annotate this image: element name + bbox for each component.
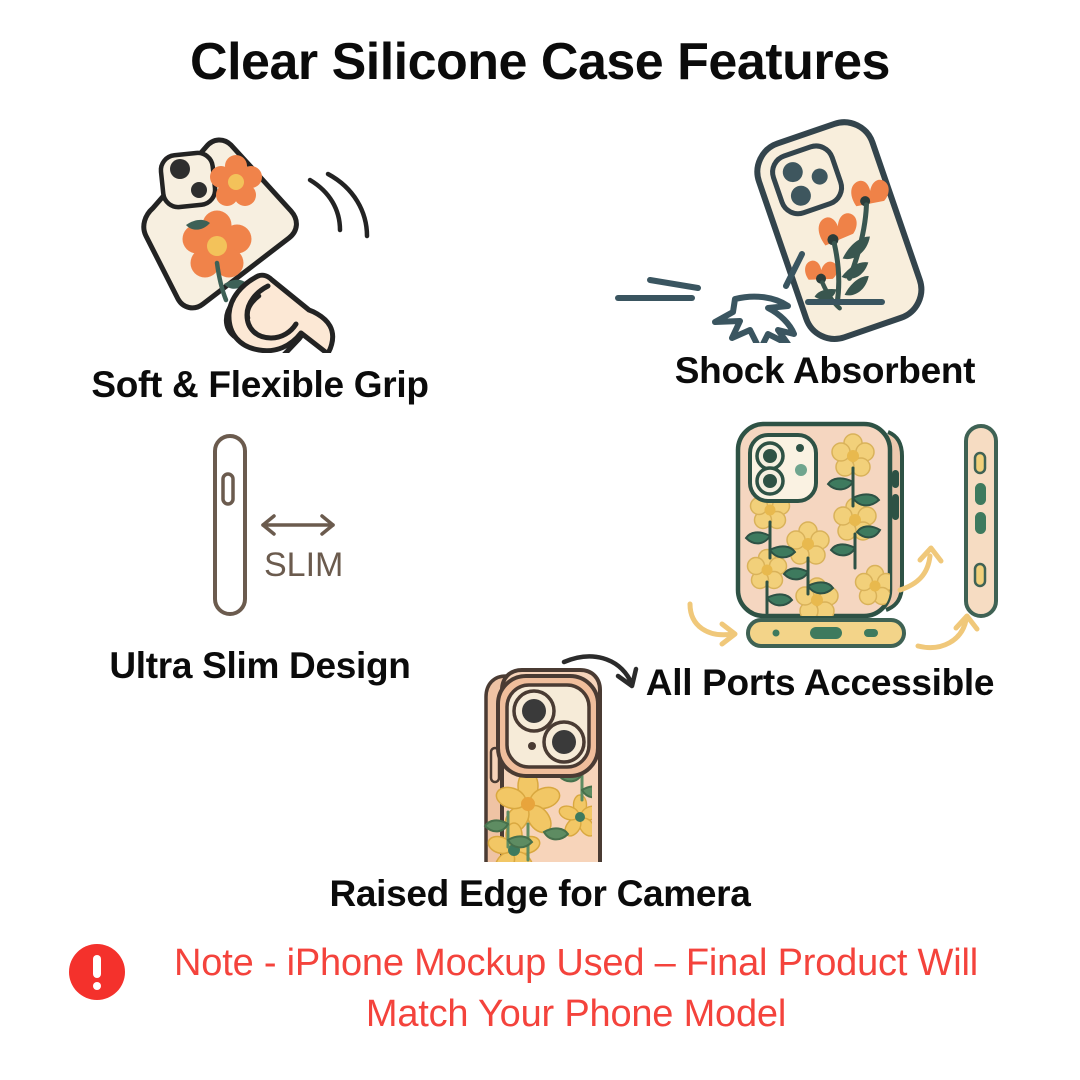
- infographic-page: Clear Silicone Case Features: [0, 0, 1080, 1080]
- note-banner: Note - iPhone Mockup Used – Final Produc…: [0, 938, 1080, 1041]
- feature-ultra-slim-design: SLIM Ultra Slim Design: [20, 420, 500, 687]
- feature-shock-absorbent: Shock Absorbent: [580, 118, 1070, 392]
- page-title: Clear Silicone Case Features: [0, 32, 1080, 92]
- exclamation-circle-icon: [69, 944, 125, 1000]
- feature-label-soft-flexible-grip: Soft & Flexible Grip: [10, 364, 510, 406]
- exclamation-dot: [93, 982, 101, 990]
- feature-raised-edge-for-camera: Raised Edge for Camera: [280, 652, 800, 915]
- phone-ports-cutouts-icon: [570, 408, 1070, 658]
- note-text: Note - iPhone Mockup Used – Final Produc…: [141, 938, 1011, 1041]
- feature-soft-flexible-grip: Soft & Flexible Grip: [10, 118, 510, 406]
- phone-raised-camera-edge-icon: [280, 652, 800, 867]
- hand-flexing-phone-case-icon: [10, 118, 510, 358]
- phone-impact-burst-icon: [580, 118, 1070, 348]
- slim-measure-text: SLIM: [264, 546, 343, 584]
- exclamation-stem: [93, 955, 101, 978]
- feature-label-shock-absorbent: Shock Absorbent: [580, 350, 1070, 392]
- feature-label-raised-edge-for-camera: Raised Edge for Camera: [280, 873, 800, 915]
- phone-side-profile-slim-icon: SLIM: [20, 420, 500, 635]
